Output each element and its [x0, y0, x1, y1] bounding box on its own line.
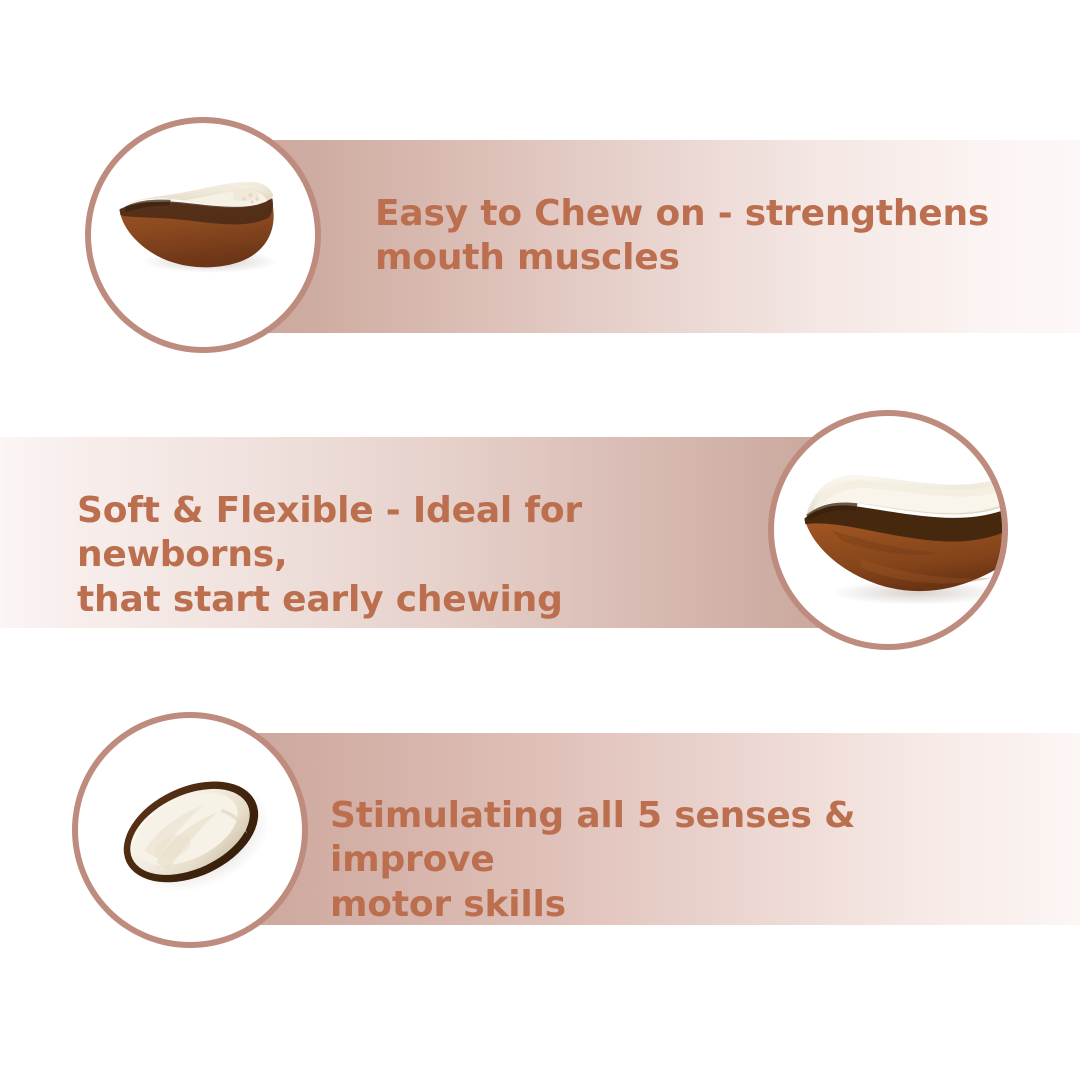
feature-text-3: Stimulating all 5 senses & improve motor… — [330, 794, 1010, 927]
feature-icon-circle-3 — [72, 712, 308, 948]
feature-icon-circle-2 — [768, 410, 1008, 650]
coconut-wedge-closeup-icon — [774, 416, 1002, 644]
coconut-half-icon — [78, 718, 302, 942]
feature-text-2: Soft & Flexible - Ideal for newborns, th… — [77, 489, 797, 622]
feature-icon-circle-1 — [85, 117, 321, 353]
feature-text-1: Easy to Chew on - strengthens mouth musc… — [375, 192, 995, 281]
coconut-wedge-icon — [91, 123, 315, 347]
feature-list-infographic: Easy to Chew on - strengthens mouth musc… — [0, 0, 1080, 1080]
